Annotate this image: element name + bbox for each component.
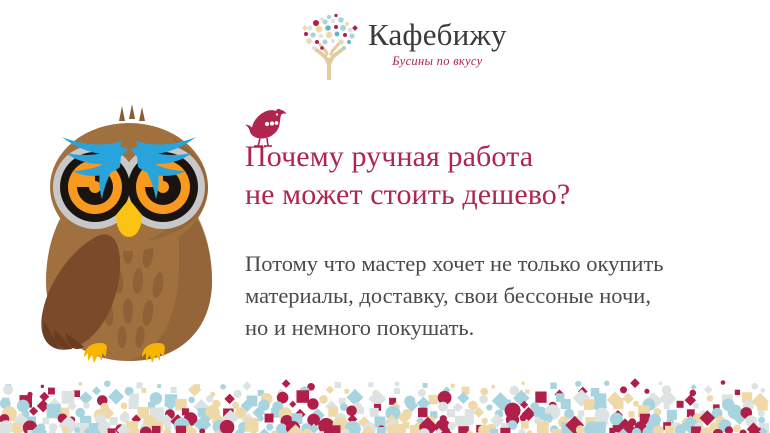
body-line-1: Потому что мастер хочет не только окупит… (245, 248, 765, 280)
brand-text: Кафебижу Бусины по вкусу (368, 19, 507, 69)
brand-logo[interactable]: Кафебижу Бусины по вкусу (296, 8, 507, 80)
headline-line-1: Почему ручная работа (245, 138, 745, 176)
body-line-3: но и немного покушать. (245, 312, 765, 344)
headline-line-2: не может стоить дешево? (245, 176, 745, 214)
headline: Почему ручная работа не может стоить деш… (245, 138, 745, 215)
owl-icon (22, 103, 237, 368)
body-line-2: материалы, доставку, свои бессоные ночи, (245, 280, 765, 312)
beads-confetti-pattern (0, 371, 770, 433)
slide-canvas: Кафебижу Бусины по вкусу (0, 0, 770, 433)
brand-name: Кафебижу (368, 19, 507, 52)
dot-tree-icon (296, 8, 362, 80)
body-text: Потому что мастер хочет не только окупит… (245, 248, 765, 344)
brand-tagline: Бусины по вкусу (392, 54, 482, 69)
